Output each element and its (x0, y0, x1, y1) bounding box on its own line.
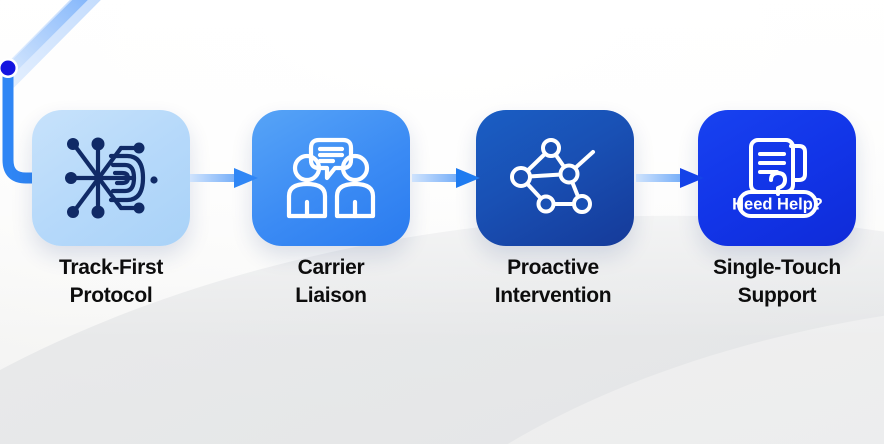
step-card-track-first-protocol[interactable] (32, 110, 190, 246)
need-help-badge: Heed Help? (732, 192, 823, 216)
step-label-3-line2: Intervention (453, 282, 653, 310)
step-card-single-touch-support[interactable]: Heed Help? (698, 110, 856, 246)
step-card-carrier-liaison[interactable] (252, 110, 410, 246)
step-label-4: Single-Touch Support (677, 254, 877, 309)
step-label-3: Proactive Intervention (453, 254, 653, 309)
two-people-chat-icon (279, 130, 383, 226)
step-label-2: Carrier Liaison (231, 254, 431, 309)
need-help-badge-text: Heed Help? (732, 196, 823, 214)
support-document-icon: Heed Help? (725, 130, 829, 226)
step-label-1-line1: Track-First (11, 254, 211, 282)
step-card-proactive-intervention[interactable] (476, 110, 634, 246)
step-label-1: Track-First Protocol (11, 254, 211, 309)
step-label-4-line1: Single-Touch (677, 254, 877, 282)
neural-network-icon (59, 130, 163, 226)
flow-diagram-canvas: Heed Help? Track-First Protocol Carrier … (0, 0, 884, 444)
step-label-2-line1: Carrier (231, 254, 431, 282)
step-label-4-line2: Support (677, 282, 877, 310)
step-label-1-line2: Protocol (11, 282, 211, 310)
step-label-3-line1: Proactive (453, 254, 653, 282)
network-graph-nodes-icon (503, 130, 607, 226)
step-label-2-line2: Liaison (231, 282, 431, 310)
